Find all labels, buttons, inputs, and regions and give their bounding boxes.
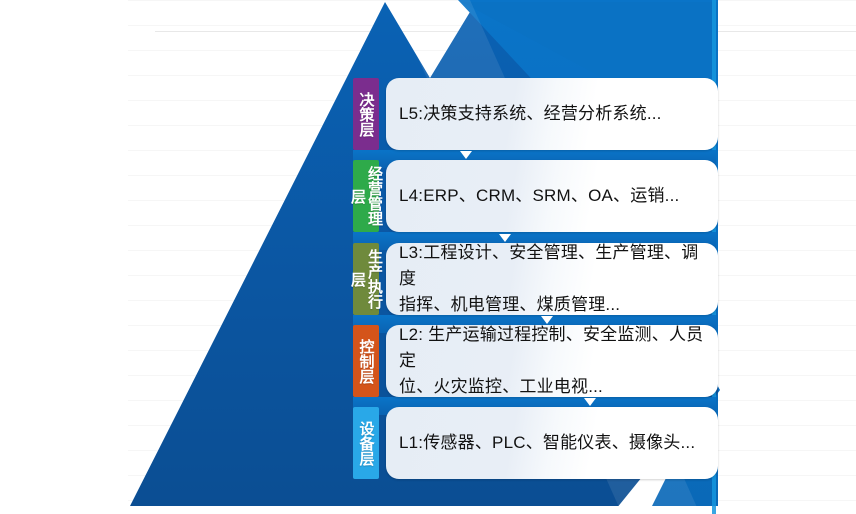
- level-row-l3[interactable]: 生产执行层 L3:工程设计、安全管理、生产管理、调度 指挥、机电管理、煤质管理.…: [353, 243, 718, 315]
- level-stack: 决策层 L5:决策支持系统、经营分析系统... 经营管理层 L4:ERP、CRM…: [353, 78, 718, 490]
- level-row-l5[interactable]: 决策层 L5:决策支持系统、经营分析系统...: [353, 78, 718, 150]
- triangle-down-icon-l4-l3: [499, 234, 511, 242]
- level-tag-l1: 设备层: [353, 407, 379, 479]
- triangle-down-icon-l3-l2: [541, 316, 553, 324]
- level-text-l4: L4:ERP、CRM、SRM、OA、运销...: [386, 183, 692, 209]
- level-row-l2[interactable]: 控制层 L2: 生产运输过程控制、安全监测、人员定 位、火灾监控、工业电视...: [353, 325, 718, 397]
- level-card-l1[interactable]: L1:传感器、PLC、智能仪表、摄像头...: [386, 407, 718, 479]
- level-tag-l2: 控制层: [353, 325, 379, 397]
- level-row-l4[interactable]: 经营管理层 L4:ERP、CRM、SRM、OA、运销...: [353, 160, 718, 232]
- level-text-l3: L3:工程设计、安全管理、生产管理、调度 指挥、机电管理、煤质管理...: [386, 243, 718, 315]
- level-text-l5: L5:决策支持系统、经营分析系统...: [386, 101, 675, 127]
- level-card-l4[interactable]: L4:ERP、CRM、SRM、OA、运销...: [386, 160, 718, 232]
- level-card-l5[interactable]: L5:决策支持系统、经营分析系统...: [386, 78, 718, 150]
- level-tag-l3: 生产执行层: [353, 243, 379, 315]
- diagram-canvas: 决策层 L5:决策支持系统、经营分析系统... 经营管理层 L4:ERP、CRM…: [0, 0, 856, 514]
- level-row-l1[interactable]: 设备层 L1:传感器、PLC、智能仪表、摄像头...: [353, 407, 718, 479]
- level-tag-l4: 经营管理层: [353, 160, 379, 232]
- level-card-l3[interactable]: L3:工程设计、安全管理、生产管理、调度 指挥、机电管理、煤质管理...: [386, 243, 718, 315]
- level-tag-l5: 决策层: [353, 78, 379, 150]
- triangle-down-icon-l5-l4: [460, 151, 472, 159]
- level-text-l2: L2: 生产运输过程控制、安全监测、人员定 位、火灾监控、工业电视...: [386, 325, 718, 397]
- level-text-l1: L1:传感器、PLC、智能仪表、摄像头...: [386, 430, 708, 456]
- level-card-l2[interactable]: L2: 生产运输过程控制、安全监测、人员定 位、火灾监控、工业电视...: [386, 325, 718, 397]
- triangle-down-icon-l2-l1: [584, 398, 596, 406]
